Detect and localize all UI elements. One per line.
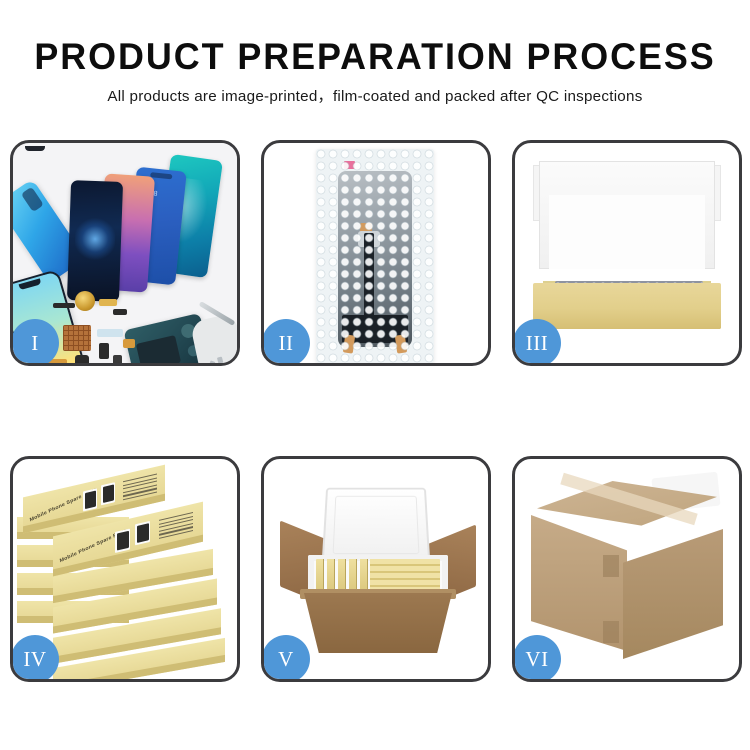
foam-lid-icon	[322, 488, 431, 564]
step-badge-3: III	[513, 319, 561, 366]
bubble-wrap-bag-icon	[316, 149, 434, 363]
small-part-9-icon	[123, 339, 135, 348]
phone-dark-icon	[67, 180, 123, 302]
step-badge-5: V	[262, 635, 310, 682]
steps-grid: 9:08	[10, 140, 743, 682]
step-badge-6: VI	[513, 635, 561, 682]
step-badge-2: II	[262, 319, 310, 366]
step-badge-1: I	[11, 319, 59, 366]
step-numeral-5: V	[278, 649, 294, 670]
product-preparation-infographic: PRODUCT PREPARATION PROCESS All products…	[0, 0, 750, 750]
flex-cable-4-icon	[113, 309, 127, 315]
step-numeral-2: II	[279, 333, 294, 354]
page-subtitle: All products are image-printed，film-coat…	[0, 78, 750, 107]
small-part-8-icon	[113, 355, 122, 363]
step-badge-4: IV	[11, 635, 59, 682]
header: PRODUCT PREPARATION PROCESS All products…	[0, 0, 750, 107]
step-panel-6[interactable]: VI	[512, 456, 742, 682]
earpiece-part-icon	[53, 303, 75, 308]
step-panel-3[interactable]: III	[512, 140, 742, 366]
steps-row-bottom: Mobile Phone Spare Parts Mobile Phone Sp…	[10, 456, 743, 682]
camera-module-part-icon	[75, 355, 89, 363]
step-numeral-6: VI	[525, 649, 548, 670]
sealed-shipping-carton-icon	[531, 481, 723, 659]
carton-front-panel-icon	[304, 593, 452, 653]
step-panel-2[interactable]: II	[261, 140, 491, 366]
pcb-grid-part-icon	[63, 325, 91, 351]
speaker-part-icon	[75, 291, 95, 311]
flex-cable-3-icon	[99, 299, 117, 306]
flex-cable-5-icon	[97, 329, 123, 337]
flex-cable-6-icon	[99, 343, 109, 359]
carton-tab-upper-icon	[603, 555, 619, 577]
step-panel-1[interactable]: 9:08	[10, 140, 240, 366]
page-title: PRODUCT PREPARATION PROCESS	[11, 0, 739, 78]
step-numeral-4: IV	[23, 649, 46, 670]
step-panel-4[interactable]: Mobile Phone Spare Parts Mobile Phone Sp…	[10, 456, 240, 682]
screws-icon	[209, 357, 235, 363]
bubble-texture-icon	[316, 149, 434, 363]
carton-right-face-icon	[623, 529, 723, 659]
steps-row-top: 9:08	[10, 140, 743, 366]
open-shipping-carton-icon	[290, 489, 466, 651]
open-inner-box-icon	[533, 161, 721, 329]
step-panel-5[interactable]: V	[261, 456, 491, 682]
carton-tab-lower-icon	[603, 621, 619, 643]
step-numeral-3: III	[526, 333, 548, 354]
step-numeral-1: I	[31, 333, 39, 354]
